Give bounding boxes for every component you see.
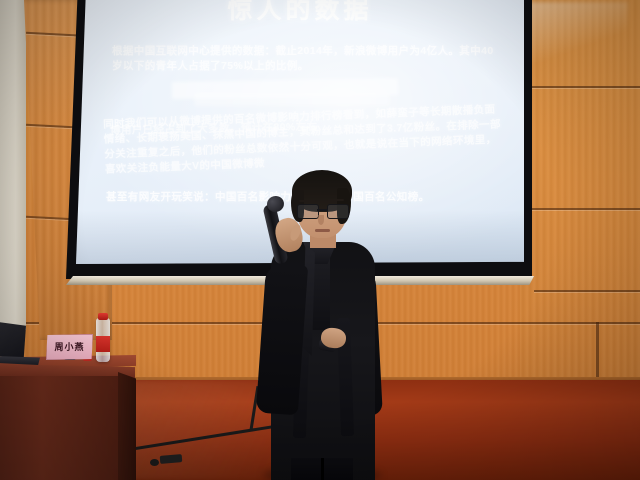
water-bottle-label xyxy=(96,336,110,352)
eyeglass-bridge xyxy=(317,209,327,211)
water-bottle-cap xyxy=(98,313,108,320)
speaker-inner-shirt xyxy=(312,256,330,330)
eyeglass-lens-left xyxy=(297,204,319,219)
side-wall-plaster xyxy=(0,0,26,330)
wall-gloss-reflection xyxy=(524,2,628,72)
speaker-mouth xyxy=(315,229,330,232)
speaker-leg-gap xyxy=(321,458,324,480)
podium-side-edge xyxy=(118,372,136,480)
speaker-nose xyxy=(318,215,324,225)
podium-nameplate: 周小燕 xyxy=(46,334,93,360)
speaker-figure xyxy=(255,168,385,480)
eyeglass-lens-right xyxy=(327,204,349,219)
wall-panel-seam xyxy=(534,290,640,292)
nameplate-text: 周小燕 xyxy=(47,340,92,353)
podium-body xyxy=(0,376,120,480)
slide-title: 惊人的数据 xyxy=(76,0,524,26)
slide-paragraph-1: 根据中国互联网中心提供的数据：截止2014年，新浪微博用户为4亿人。其中40岁以… xyxy=(112,44,502,74)
presentation-photo-scene: 惊人的数据 根据中国互联网中心提供的数据：截止2014年，新浪微博用户为4亿人。… xyxy=(0,0,640,480)
slide-animation-band xyxy=(194,93,390,106)
wood-wall-right xyxy=(520,0,640,420)
laptop-screen xyxy=(0,322,26,360)
cable-connector xyxy=(150,459,159,466)
